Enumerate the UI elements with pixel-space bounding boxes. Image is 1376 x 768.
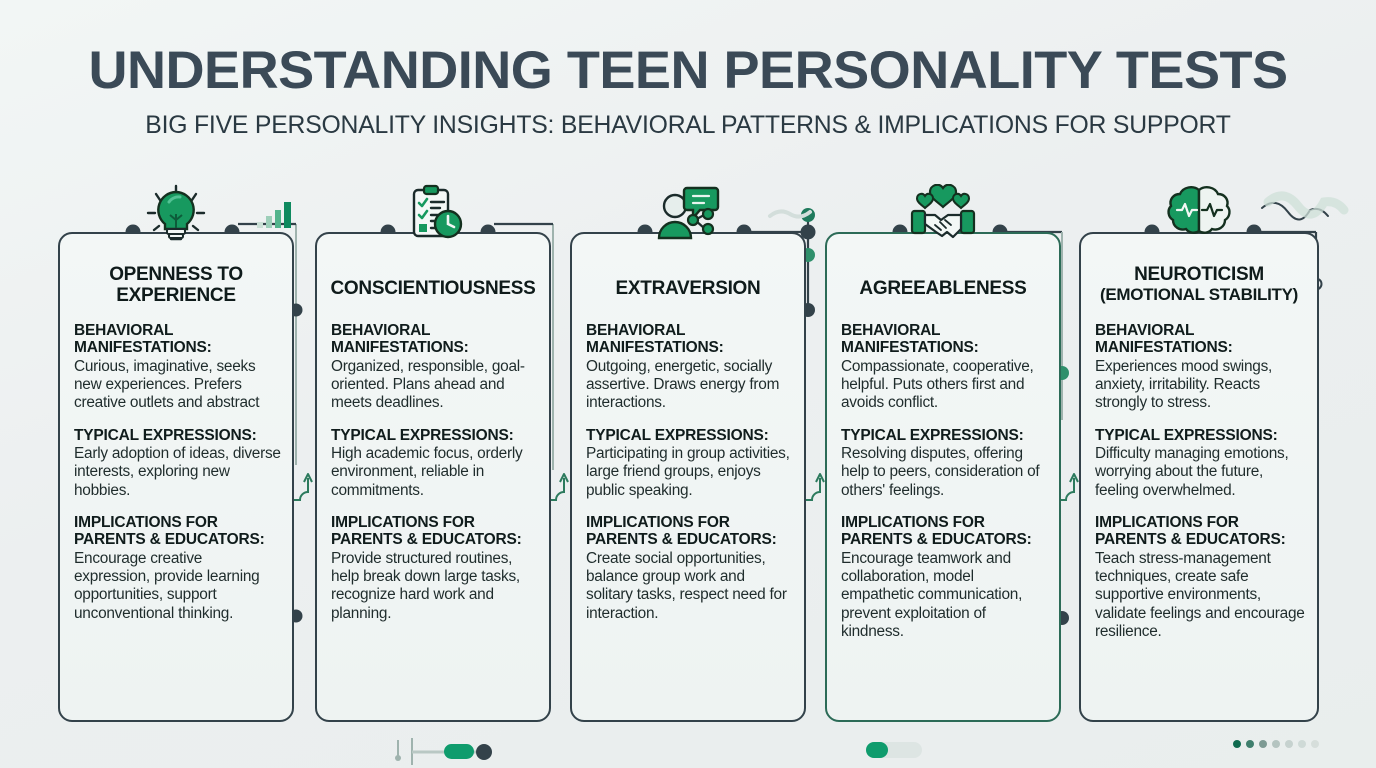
column-title-sub: (EMOTIONAL STABILITY) bbox=[1089, 285, 1309, 304]
bar-chart-icon bbox=[257, 202, 291, 228]
section-text-behavioral: Compassionate, cooperative, helpful. Put… bbox=[841, 358, 1049, 413]
section-text-implications: Teach stress-management techniques, crea… bbox=[1095, 550, 1307, 642]
section-text-typical: High academic focus, orderly environment… bbox=[331, 445, 539, 500]
section-heading-implications: IMPLICATIONS FOR PARENTS & EDUCATORS: bbox=[74, 514, 282, 549]
section-implications: IMPLICATIONS FOR PARENTS & EDUCATORS: Te… bbox=[1095, 514, 1307, 641]
section-text-typical: Difficulty managing emotions, worrying a… bbox=[1095, 445, 1307, 500]
slider-control-icon bbox=[395, 738, 492, 765]
section-heading-typical: TYPICAL EXPRESSIONS: bbox=[74, 427, 282, 444]
column-card-extraversion[interactable]: EXTRAVERSION BEHAVIORAL MANIFESTATIONS: … bbox=[570, 232, 806, 722]
section-text-behavioral: Experiences mood swings, anxiety, irrita… bbox=[1095, 358, 1307, 413]
section-behavioral: BEHAVIORAL MANIFESTATIONS: Organized, re… bbox=[331, 322, 539, 413]
brain-icon bbox=[1162, 184, 1236, 246]
section-text-implications: Encourage teamwork and collaboration, mo… bbox=[841, 550, 1049, 642]
section-typical: TYPICAL EXPRESSIONS: Resolving disputes,… bbox=[841, 427, 1049, 500]
section-implications: IMPLICATIONS FOR PARENTS & EDUCATORS: Cr… bbox=[586, 514, 794, 623]
section-typical: TYPICAL EXPRESSIONS: Difficulty managing… bbox=[1095, 427, 1307, 500]
column-title-conscientiousness: CONSCIENTIOUSNESS bbox=[325, 278, 541, 299]
section-typical: TYPICAL EXPRESSIONS: High academic focus… bbox=[331, 427, 539, 500]
section-heading-behavioral: BEHAVIORAL MANIFESTATIONS: bbox=[1095, 322, 1307, 357]
squiggle-line-icon bbox=[770, 196, 1344, 220]
column-title-extraversion: EXTRAVERSION bbox=[580, 278, 796, 299]
header: UNDERSTANDING TEEN PERSONALITY TESTS BIG… bbox=[0, 44, 1376, 140]
section-heading-implications: IMPLICATIONS FOR PARENTS & EDUCATORS: bbox=[331, 514, 539, 549]
column-title-neuroticism: NEUROTICISM (EMOTIONAL STABILITY) bbox=[1089, 264, 1309, 304]
section-text-typical: Early adoption of ideas, diverse interes… bbox=[74, 445, 282, 500]
section-text-behavioral: Outgoing, energetic, socially assertive.… bbox=[586, 358, 794, 413]
page-title: UNDERSTANDING TEEN PERSONALITY TESTS bbox=[0, 44, 1376, 97]
section-implications: IMPLICATIONS FOR PARENTS & EDUCATORS: En… bbox=[74, 514, 282, 623]
page-subtitle: BIG FIVE PERSONALITY INSIGHTS: BEHAVIORA… bbox=[7, 111, 1369, 140]
section-text-typical: Participating in group activities, large… bbox=[586, 445, 794, 500]
clipboard-clock-icon bbox=[396, 184, 470, 246]
progress-pill-icon bbox=[866, 742, 922, 758]
section-heading-behavioral: BEHAVIORAL MANIFESTATIONS: bbox=[74, 322, 282, 357]
section-heading-behavioral: BEHAVIORAL MANIFESTATIONS: bbox=[841, 322, 1049, 357]
lightbulb-icon bbox=[139, 184, 213, 246]
section-behavioral: BEHAVIORAL MANIFESTATIONS: Compassionate… bbox=[841, 322, 1049, 413]
section-heading-typical: TYPICAL EXPRESSIONS: bbox=[586, 427, 794, 444]
infographic-canvas: UNDERSTANDING TEEN PERSONALITY TESTS BIG… bbox=[0, 0, 1376, 768]
section-heading-behavioral: BEHAVIORAL MANIFESTATIONS: bbox=[331, 322, 539, 357]
section-heading-typical: TYPICAL EXPRESSIONS: bbox=[1095, 427, 1307, 444]
section-behavioral: BEHAVIORAL MANIFESTATIONS: Outgoing, ene… bbox=[586, 322, 794, 413]
section-implications: IMPLICATIONS FOR PARENTS & EDUCATORS: En… bbox=[841, 514, 1049, 641]
column-card-openness[interactable]: OPENNESS TO EXPERIENCE BEHAVIORAL MANIFE… bbox=[58, 232, 294, 722]
section-text-behavioral: Organized, responsible, goal-oriented. P… bbox=[331, 358, 539, 413]
section-heading-implications: IMPLICATIONS FOR PARENTS & EDUCATORS: bbox=[1095, 514, 1307, 549]
column-title-main: NEUROTICISM bbox=[1134, 264, 1264, 285]
section-text-typical: Resolving disputes, offering help to pee… bbox=[841, 445, 1049, 500]
section-text-behavioral: Curious, imaginative, seeks new experien… bbox=[74, 358, 282, 413]
section-behavioral: BEHAVIORAL MANIFESTATIONS: Experiences m… bbox=[1095, 322, 1307, 413]
section-typical: TYPICAL EXPRESSIONS: Participating in gr… bbox=[586, 427, 794, 500]
section-implications: IMPLICATIONS FOR PARENTS & EDUCATORS: Pr… bbox=[331, 514, 539, 623]
handshake-hearts-icon bbox=[906, 184, 980, 246]
column-card-agreeableness[interactable]: AGREEABLENESS BEHAVIORAL MANIFESTATIONS:… bbox=[825, 232, 1061, 722]
column-title-agreeableness: AGREEABLENESS bbox=[835, 278, 1051, 299]
section-text-implications: Encourage creative expression, provide l… bbox=[74, 550, 282, 623]
dot-sequence-icon bbox=[1233, 740, 1319, 748]
section-text-implications: Create social opportunities, balance gro… bbox=[586, 550, 794, 623]
section-heading-implications: IMPLICATIONS FOR PARENTS & EDUCATORS: bbox=[841, 514, 1049, 549]
section-heading-typical: TYPICAL EXPRESSIONS: bbox=[841, 427, 1049, 444]
section-heading-implications: IMPLICATIONS FOR PARENTS & EDUCATORS: bbox=[586, 514, 794, 549]
column-card-neuroticism[interactable]: NEUROTICISM (EMOTIONAL STABILITY) BEHAVI… bbox=[1079, 232, 1319, 722]
section-heading-typical: TYPICAL EXPRESSIONS: bbox=[331, 427, 539, 444]
section-text-implications: Provide structured routines, help break … bbox=[331, 550, 539, 623]
column-title-openness: OPENNESS TO EXPERIENCE bbox=[68, 264, 284, 307]
section-behavioral: BEHAVIORAL MANIFESTATIONS: Curious, imag… bbox=[74, 322, 282, 413]
section-typical: TYPICAL EXPRESSIONS: Early adoption of i… bbox=[74, 427, 282, 500]
column-card-conscientiousness[interactable]: CONSCIENTIOUSNESS BEHAVIORAL MANIFESTATI… bbox=[315, 232, 551, 722]
section-heading-behavioral: BEHAVIORAL MANIFESTATIONS: bbox=[586, 322, 794, 357]
person-speech-network-icon bbox=[651, 184, 725, 246]
columns-container: OPENNESS TO EXPERIENCE BEHAVIORAL MANIFE… bbox=[0, 232, 1376, 732]
